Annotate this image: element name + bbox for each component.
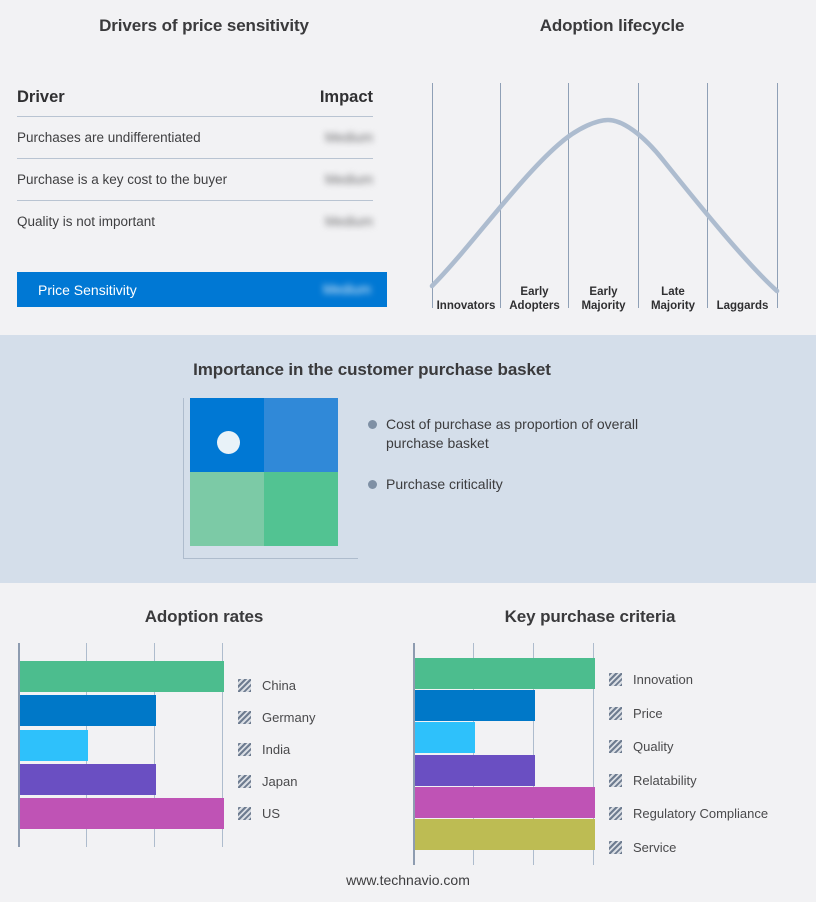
legend-item: Quality xyxy=(609,730,768,764)
stage-label-line2: Majority xyxy=(569,300,638,314)
stage-label-line2: Adopters xyxy=(501,300,568,314)
bell-curve-path xyxy=(432,120,777,291)
legend-item: Germany xyxy=(238,701,315,733)
column-header-driver: Driver xyxy=(17,88,65,107)
bar-china xyxy=(20,661,224,692)
price-sensitivity-label: Price Sensitivity xyxy=(38,282,137,298)
legend-item: Regulatory Compliance xyxy=(609,797,768,831)
legend-item: India xyxy=(238,733,315,765)
table-row: Purchases are undifferentiated Medium xyxy=(17,117,373,159)
quadrant-grid xyxy=(190,398,338,546)
legend-label: Regulatory Compliance xyxy=(633,806,768,821)
legend-label: Quality xyxy=(633,739,673,754)
hatch-swatch-icon xyxy=(609,841,622,854)
hatch-swatch-icon xyxy=(609,707,622,720)
legend-item: Japan xyxy=(238,765,315,797)
quadrant-y-axis xyxy=(183,398,184,558)
table-row: Quality is not important Medium xyxy=(17,201,373,242)
bullet-icon xyxy=(368,480,377,489)
legend-label: India xyxy=(262,742,290,757)
quadrant-bottom-left xyxy=(190,472,264,546)
bar-regulatory-compliance xyxy=(415,787,595,818)
stage-label-line2: Majority xyxy=(639,300,707,314)
basket-title: Importance in the customer purchase bask… xyxy=(0,360,744,380)
table-header-row: Driver Impact xyxy=(17,88,373,117)
hatch-swatch-icon xyxy=(238,711,251,724)
driver-label: Purchase is a key cost to the buyer xyxy=(17,172,227,187)
column-header-impact: Impact xyxy=(320,88,373,107)
driver-label: Quality is not important xyxy=(17,214,155,229)
hatch-swatch-icon xyxy=(238,807,251,820)
legend-label: China xyxy=(262,678,296,693)
bar-germany xyxy=(20,695,156,726)
bar-japan xyxy=(20,764,156,795)
stage-label-laggards: Laggards xyxy=(708,300,777,314)
adoption-rates-panel: Adoption rates ChinaGermanyIndiaJapanUS xyxy=(0,583,408,902)
adoption-rates-plot xyxy=(18,643,222,847)
hatch-swatch-icon xyxy=(238,775,251,788)
bar-relatability xyxy=(415,755,535,786)
hatch-swatch-icon xyxy=(609,740,622,753)
legend-item: Service xyxy=(609,831,768,865)
legend-label: Price xyxy=(633,706,663,721)
stage-label-line1: Early xyxy=(569,286,638,300)
stage-label-line1: Innovators xyxy=(432,300,500,314)
hatch-swatch-icon xyxy=(238,679,251,692)
legend-label: Innovation xyxy=(633,672,693,687)
stage-label-line1: Laggards xyxy=(708,300,777,314)
legend-label: Relatability xyxy=(633,773,697,788)
legend-label: Purchase criticality xyxy=(386,475,503,494)
bar-service xyxy=(415,819,595,850)
drivers-panel: Drivers of price sensitivity Driver Impa… xyxy=(0,0,408,335)
lifecycle-curve-chart xyxy=(408,0,816,335)
stage-label-late-majority: Late Majority xyxy=(639,286,707,313)
legend-item: China xyxy=(238,669,315,701)
hatch-swatch-icon xyxy=(609,774,622,787)
quadrant-top-right xyxy=(264,398,338,472)
drivers-title: Drivers of price sensitivity xyxy=(0,16,408,36)
driver-label: Purchases are undifferentiated xyxy=(17,130,201,145)
quadrant-chart xyxy=(183,398,361,566)
legend-label: Germany xyxy=(262,710,315,725)
impact-value: Medium xyxy=(325,214,373,229)
impact-value: Medium xyxy=(325,130,373,145)
key-purchase-criteria-title: Key purchase criteria xyxy=(400,607,780,627)
stage-label-innovators: Innovators xyxy=(432,300,500,314)
stage-label-line1: Late xyxy=(639,286,707,300)
stage-label-early-adopters: Early Adopters xyxy=(501,286,568,313)
bar-us xyxy=(20,798,224,829)
legend-item: Cost of purchase as proportion of overal… xyxy=(368,415,668,453)
impact-value: Medium xyxy=(325,172,373,187)
bullet-icon xyxy=(368,420,377,429)
stage-dividers xyxy=(433,83,778,308)
stage-label-line1: Early xyxy=(501,286,568,300)
legend-label: Service xyxy=(633,840,676,855)
table-row: Purchase is a key cost to the buyer Medi… xyxy=(17,159,373,201)
bar-india xyxy=(20,730,88,761)
key-purchase-criteria-panel: Key purchase criteria InnovationPriceQua… xyxy=(400,583,816,902)
lifecycle-panel: Adoption lifecycle Innovators Early Adop… xyxy=(408,0,816,335)
purchase-basket-panel: Importance in the customer purchase bask… xyxy=(0,335,816,583)
quadrant-bottom-right xyxy=(264,472,338,546)
position-marker-dot xyxy=(217,431,240,454)
legend-label: Cost of purchase as proportion of overal… xyxy=(386,415,668,453)
key-purchase-criteria-legend: InnovationPriceQualityRelatabilityRegula… xyxy=(609,663,768,864)
price-sensitivity-summary-row: Price Sensitivity Medium xyxy=(17,272,387,307)
legend-label: Japan xyxy=(262,774,297,789)
adoption-rates-legend: ChinaGermanyIndiaJapanUS xyxy=(238,669,315,829)
price-sensitivity-impact: Medium xyxy=(323,282,371,297)
key-purchase-criteria-plot xyxy=(413,643,593,865)
hatch-swatch-icon xyxy=(238,743,251,756)
adoption-rates-title: Adoption rates xyxy=(0,607,408,627)
legend-item: US xyxy=(238,797,315,829)
legend-label: US xyxy=(262,806,280,821)
hatch-swatch-icon xyxy=(609,807,622,820)
quadrant-x-axis xyxy=(183,558,358,559)
legend-item: Price xyxy=(609,697,768,731)
stage-label-early-majority: Early Majority xyxy=(569,286,638,313)
footer-url: www.technavio.com xyxy=(0,872,816,888)
legend-item: Purchase criticality xyxy=(368,475,668,494)
bar-price xyxy=(415,690,535,721)
bar-quality xyxy=(415,722,475,753)
legend-item: Relatability xyxy=(609,764,768,798)
hatch-swatch-icon xyxy=(609,673,622,686)
basket-legend: Cost of purchase as proportion of overal… xyxy=(368,415,668,516)
bar-innovation xyxy=(415,658,595,689)
drivers-table: Driver Impact Purchases are undifferenti… xyxy=(17,88,373,242)
legend-item: Innovation xyxy=(609,663,768,697)
